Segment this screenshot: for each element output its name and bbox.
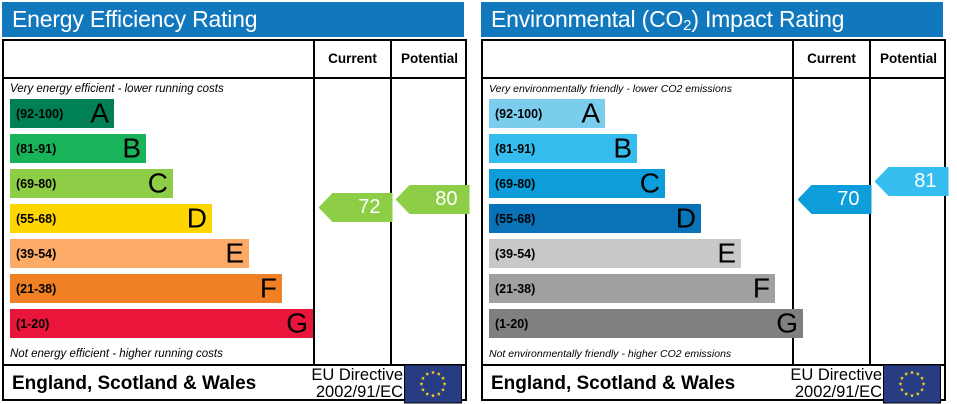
energy-efficiency-chart: Energy Efficiency Rating Current Potenti…: [0, 0, 478, 404]
band-range-b-energy: (81-91): [16, 142, 56, 156]
band-range-d-co2: (55-68): [495, 212, 535, 226]
footer-directive-line1-co2: EU Directive: [790, 366, 882, 383]
band-range-a-co2: (92-100): [495, 107, 542, 121]
band-row-a-energy: (92-100) A: [10, 99, 114, 128]
column-header-potential-energy: Potential: [390, 41, 467, 77]
rating-grid-energy: Current Potential Very energy efficient …: [2, 39, 467, 401]
chart-title-co2-suffix: ) Impact Rating: [691, 6, 844, 32]
current-rating-arrow-co2: 70: [798, 185, 872, 214]
band-row-f-co2: (21-38) F: [489, 274, 775, 303]
epc-charts-page: Energy Efficiency Rating Current Potenti…: [0, 0, 957, 404]
band-letter-f-energy: F: [260, 274, 277, 302]
chart-title-co2-subscript: 2: [683, 17, 691, 34]
co2-impact-chart: Environmental (CO2) Impact Rating Curren…: [479, 0, 957, 404]
band-range-g-co2: (1-20): [495, 317, 528, 331]
caption-top-co2: Very environmentally friendly - lower CO…: [483, 79, 792, 99]
footer-directive-energy: EU Directive 2002/91/EC: [311, 366, 403, 400]
band-row-e-energy: (39-54) E: [10, 239, 249, 268]
current-rating-arrow-energy: 72: [319, 193, 393, 222]
caption-bottom-co2: Not environmentally friendly - higher CO…: [483, 344, 792, 364]
band-letter-d-co2: D: [676, 204, 696, 232]
eu-flag-icon-energy: [404, 364, 462, 403]
band-letter-f-co2: F: [753, 274, 770, 302]
caption-top-energy: Very energy efficient - lower running co…: [4, 79, 313, 99]
band-range-b-co2: (81-91): [495, 142, 535, 156]
band-row-f-energy: (21-38) F: [10, 274, 282, 303]
band-range-d-energy: (55-68): [16, 212, 56, 226]
band-letter-b-energy: B: [122, 134, 141, 162]
band-row-b-energy: (81-91) B: [10, 134, 146, 163]
band-row-g-co2: (1-20) G: [489, 309, 803, 338]
band-row-b-co2: (81-91) B: [489, 134, 637, 163]
chart-title-co2-prefix: Environmental (CO: [491, 6, 683, 32]
band-letter-a-co2: A: [581, 99, 600, 127]
footer-directive-line2-co2: 2002/91/EC: [790, 384, 882, 401]
band-letter-e-energy: E: [225, 239, 244, 267]
band-letter-c-co2: C: [640, 169, 660, 197]
band-list-energy: (92-100) A (81-91) B (69-80) C (55-68) D…: [4, 99, 313, 344]
chart-title-energy: Energy Efficiency Rating: [2, 2, 464, 37]
band-range-e-energy: (39-54): [16, 247, 56, 261]
potential-rating-arrow-energy: 80: [396, 185, 470, 214]
footer-co2: England, Scotland & Wales EU Directive 2…: [483, 366, 944, 401]
eu-flag-icon-co2: [883, 364, 941, 403]
footer-region-co2: England, Scotland & Wales: [491, 373, 735, 395]
band-row-a-co2: (92-100) A: [489, 99, 605, 128]
band-row-c-energy: (69-80) C: [10, 169, 173, 198]
column-header-current-co2: Current: [792, 41, 869, 77]
band-range-e-co2: (39-54): [495, 247, 535, 261]
footer-energy: England, Scotland & Wales EU Directive 2…: [4, 366, 465, 401]
band-letter-c-energy: C: [148, 169, 168, 197]
footer-directive-line2-energy: 2002/91/EC: [311, 384, 403, 401]
caption-bottom-energy: Not energy efficient - higher running co…: [4, 344, 313, 364]
rating-grid-co2: Current Potential Very environmentally f…: [481, 39, 946, 401]
column-header-row-co2: Current Potential: [483, 41, 944, 79]
chart-title-co2: Environmental (CO2) Impact Rating: [481, 2, 943, 37]
band-row-d-energy: (55-68) D: [10, 204, 212, 233]
footer-region-energy: England, Scotland & Wales: [12, 373, 256, 395]
band-letter-b-co2: B: [613, 134, 632, 162]
footer-directive-line1-energy: EU Directive: [311, 366, 403, 383]
band-letter-g-co2: G: [776, 309, 798, 337]
band-range-g-energy: (1-20): [16, 317, 49, 331]
column-header-row-energy: Current Potential: [4, 41, 465, 79]
band-range-c-co2: (69-80): [495, 177, 535, 191]
band-letter-d-energy: D: [187, 204, 207, 232]
band-letter-a-energy: A: [90, 99, 109, 127]
band-row-g-energy: (1-20) G: [10, 309, 313, 338]
potential-rating-arrow-co2: 81: [875, 167, 949, 196]
band-letter-g-energy: G: [286, 309, 308, 337]
band-range-f-energy: (21-38): [16, 282, 56, 296]
footer-directive-co2: EU Directive 2002/91/EC: [790, 366, 882, 400]
band-row-e-co2: (39-54) E: [489, 239, 741, 268]
band-list-co2: (92-100) A (81-91) B (69-80) C (55-68) D…: [483, 99, 792, 344]
band-range-a-energy: (92-100): [16, 107, 63, 121]
column-header-current-energy: Current: [313, 41, 390, 77]
band-row-c-co2: (69-80) C: [489, 169, 665, 198]
column-divider-1-energy: [313, 79, 315, 364]
band-letter-e-co2: E: [717, 239, 736, 267]
column-divider-2-co2: [869, 79, 871, 364]
band-range-c-energy: (69-80): [16, 177, 56, 191]
band-range-f-co2: (21-38): [495, 282, 535, 296]
band-row-d-co2: (55-68) D: [489, 204, 701, 233]
column-header-potential-co2: Potential: [869, 41, 946, 77]
